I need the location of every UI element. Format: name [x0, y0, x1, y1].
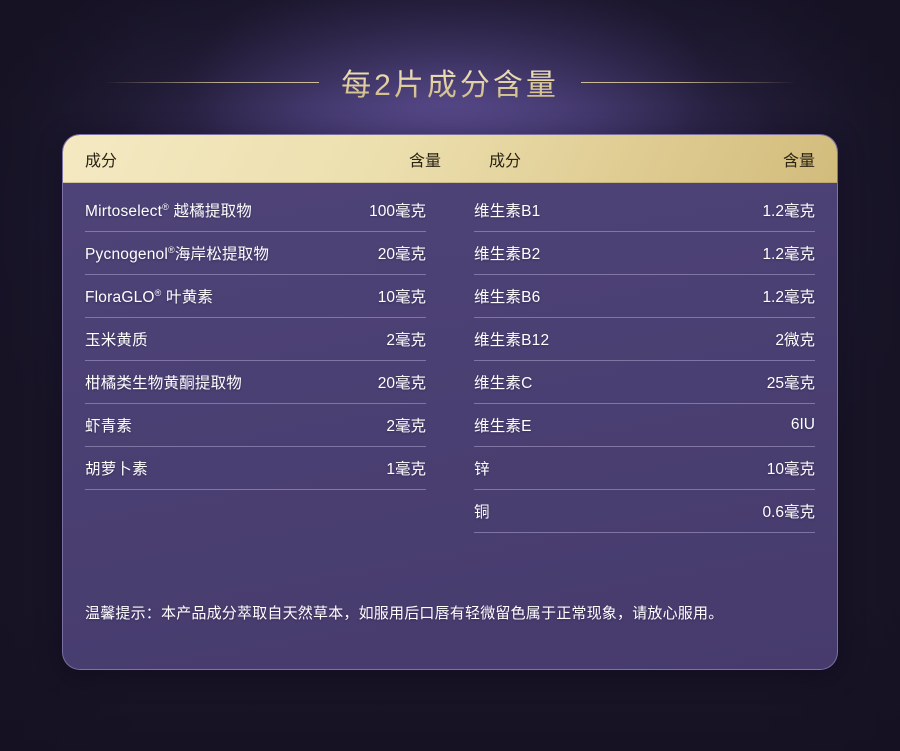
ingredient-name-suffix: 叶黄素	[162, 289, 214, 306]
table-row: 维生素C25毫克	[474, 361, 815, 404]
ingredient-amount: 1.2毫克	[752, 242, 815, 264]
ingredient-name: 维生素E	[474, 414, 532, 436]
ingredient-amount: 10毫克	[368, 285, 426, 307]
ingredient-name: 铜	[474, 500, 490, 522]
ingredients-column-left: Mirtoselect® 越橘提取物100毫克Pycnogenol®海岸松提取物…	[85, 189, 426, 533]
registered-trademark-icon: ®	[162, 202, 169, 212]
ingredient-name: 玉米黄质	[85, 328, 148, 350]
table-row: 维生素B11.2毫克	[474, 189, 815, 232]
ingredient-name: 维生素B1	[474, 199, 540, 221]
ingredient-name: 维生素B12	[474, 328, 549, 350]
table-row: Pycnogenol®海岸松提取物20毫克	[85, 232, 426, 275]
table-row: Mirtoselect® 越橘提取物100毫克	[85, 189, 426, 232]
table-header-row: 成分 含量 成分 含量	[63, 135, 837, 183]
ingredient-amount: 10毫克	[757, 457, 815, 479]
ingredient-name: 胡萝卜素	[85, 457, 148, 479]
table-header-left-group: 成分 含量	[85, 147, 441, 171]
table-row: 铜0.6毫克	[474, 490, 815, 533]
table-row: 维生素B61.2毫克	[474, 275, 815, 318]
ingredient-amount: 1.2毫克	[752, 199, 815, 221]
ingredient-name-suffix: 越橘提取物	[169, 203, 252, 220]
ingredient-amount: 1.2毫克	[752, 285, 815, 307]
table-row: 虾青素2毫克	[85, 404, 426, 447]
table-row: 锌10毫克	[474, 447, 815, 490]
column-header-ingredient-left: 成分	[85, 147, 117, 171]
table-row: 维生素B21.2毫克	[474, 232, 815, 275]
ingredient-amount: 2毫克	[376, 414, 426, 436]
disclaimer-note: 温馨提示：本产品成分萃取自天然草本，如服用后口唇有轻微留色属于正常现象，请放心服…	[85, 601, 815, 627]
ingredient-amount: 2微克	[765, 328, 815, 350]
ingredient-name: 维生素C	[474, 371, 533, 393]
table-row: 玉米黄质2毫克	[85, 318, 426, 361]
ingredient-name: Pycnogenol®海岸松提取物	[85, 242, 269, 264]
ingredient-name: 柑橘类生物黄酮提取物	[85, 371, 242, 393]
table-row-spacer	[85, 490, 426, 533]
table-row: 维生素B122微克	[474, 318, 815, 361]
ingredient-amount: 1毫克	[376, 457, 426, 479]
ingredient-name: 锌	[474, 457, 490, 479]
ingredients-column-right: 维生素B11.2毫克维生素B21.2毫克维生素B61.2毫克维生素B122微克维…	[474, 189, 815, 533]
page-title: 每2片成分含量	[341, 60, 559, 104]
registered-trademark-icon: ®	[155, 288, 162, 298]
table-header-right-group: 成分 含量	[489, 147, 815, 171]
ingredient-name: 虾青素	[85, 414, 132, 436]
title-rule-left-icon	[104, 82, 319, 83]
ingredient-amount: 100毫克	[359, 199, 426, 221]
registered-trademark-icon: ®	[168, 245, 175, 255]
ingredient-amount: 2毫克	[376, 328, 426, 350]
ingredient-name: Mirtoselect® 越橘提取物	[85, 199, 252, 221]
ingredient-name: FloraGLO® 叶黄素	[85, 285, 213, 307]
ingredient-amount: 25毫克	[757, 371, 815, 393]
ingredients-card: 成分 含量 成分 含量 Mirtoselect® 越橘提取物100毫克Pycno…	[62, 134, 838, 670]
column-header-amount-left: 含量	[409, 147, 441, 171]
ingredient-name-suffix: 海岸松提取物	[175, 246, 269, 263]
column-header-ingredient-right: 成分	[489, 147, 521, 171]
table-row: FloraGLO® 叶黄素10毫克	[85, 275, 426, 318]
table-row: 胡萝卜素1毫克	[85, 447, 426, 490]
title-rule-right-icon	[581, 82, 796, 83]
ingredient-amount: 20毫克	[368, 242, 426, 264]
ingredient-amount: 0.6毫克	[752, 500, 815, 522]
ingredient-name: 维生素B6	[474, 285, 540, 307]
section-title: 每2片成分含量	[0, 60, 900, 104]
table-row: 柑橘类生物黄酮提取物20毫克	[85, 361, 426, 404]
table-body: Mirtoselect® 越橘提取物100毫克Pycnogenol®海岸松提取物…	[63, 183, 837, 533]
table-row: 维生素E6IU	[474, 404, 815, 447]
ingredient-amount: 20毫克	[368, 371, 426, 393]
column-header-amount-right: 含量	[783, 147, 815, 171]
ingredient-name: 维生素B2	[474, 242, 540, 264]
ingredient-amount: 6IU	[781, 416, 815, 434]
